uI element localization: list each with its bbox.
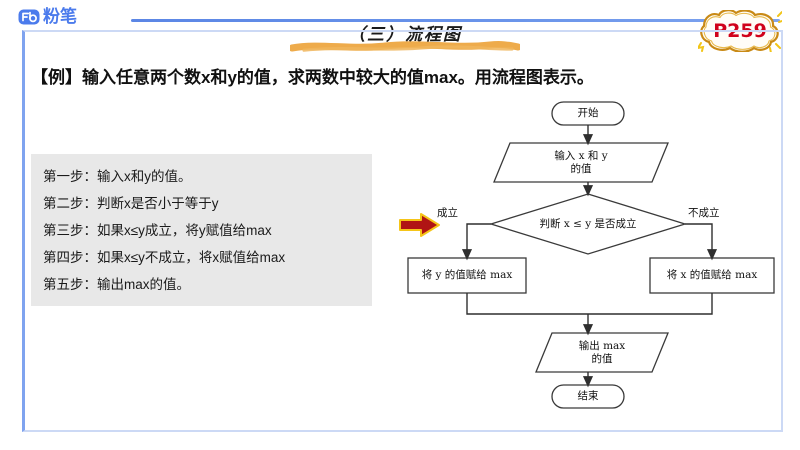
brand-logo-text: 粉笔 — [43, 8, 77, 25]
step-item: 第二步：判断x是否小于等于y — [43, 190, 360, 217]
example-statement: 【例】输入任意两个数x和y的值，求两数中较大的值max。用流程图表示。 — [31, 63, 594, 88]
flow-branch-label-no: 不成立 — [688, 205, 720, 220]
brand-logo: 粉笔 — [18, 8, 77, 25]
step-item: 第四步：如果x≤y不成立，将x赋值给max — [43, 244, 360, 271]
slide-root: 粉笔 （三）流程图 P259 【例】输入任意两个数x和y的值，求两数中较大的 — [0, 0, 800, 450]
steps-panel: 第一步：输入x和y的值。 第二步：判断x是否小于等于y 第三步：如果x≤y成立，… — [31, 154, 372, 306]
step-item: 第五步：输出max的值。 — [43, 271, 360, 298]
step-item: 第三步：如果x≤y成立，将y赋值给max — [43, 217, 360, 244]
flow-branch-label-yes: 成立 — [437, 205, 458, 220]
flowchart: 开始 输入 x 和 y 的值 判断 x ≤ y 是否成立 将 y 的值赋给 ma… — [400, 95, 780, 420]
fb-logo-icon — [18, 9, 40, 25]
step-item: 第一步：输入x和y的值。 — [43, 163, 360, 190]
